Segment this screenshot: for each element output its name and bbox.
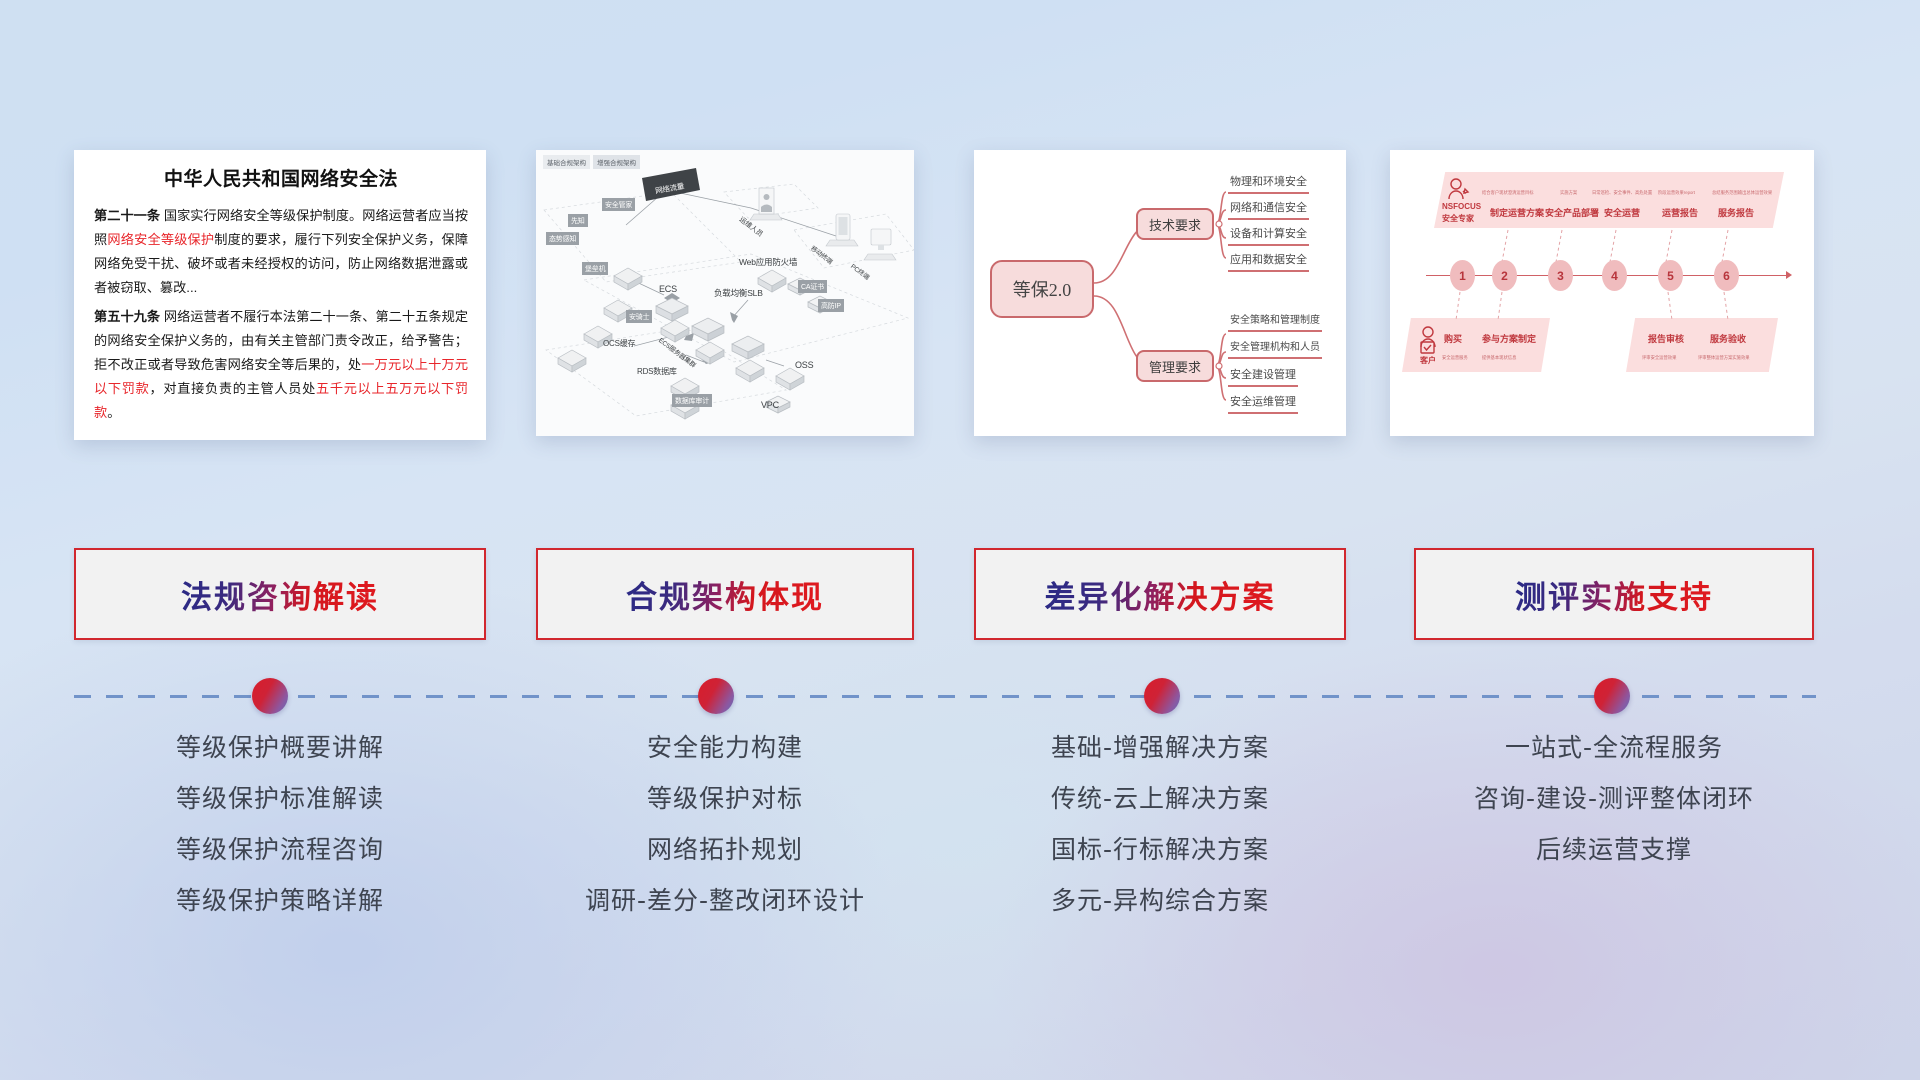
law-title: 中华人民共和国网络安全法: [94, 164, 468, 191]
headline-label-4: 测评实施支持: [1515, 572, 1713, 617]
detail-column-1: 等级保护概要讲解 等级保护标准解读 等级保护流程咨询 等级保护策略详解: [74, 735, 486, 939]
nsfocus-top-label-1: 制定运营方案: [1490, 206, 1544, 219]
list-item: 安全能力构建: [536, 735, 914, 760]
arch-label-ocs-cache: OCS缓存: [600, 336, 638, 350]
arch-label-anti-ddos-ip: 高防IP: [818, 299, 844, 312]
headline-box-assessment-support[interactable]: 测评实施支持: [1414, 548, 1814, 640]
arch-label-oss: OSS: [792, 358, 816, 371]
mindmap-leaf-ops-mgmt: 安全运维管理: [1228, 396, 1298, 414]
arch-label-security-butler: 安全管家: [602, 198, 635, 211]
list-item: 国标-行标解决方案: [974, 837, 1346, 862]
arch-label-bastion-host: 堡垒机: [582, 262, 608, 275]
nsfocus-bottom-sub-1: 安全运营服务: [1442, 355, 1468, 361]
nsfocus-axis-arrow-icon: [1786, 271, 1792, 279]
mindmap-leaf-construction-mgmt: 安全建设管理: [1228, 369, 1298, 387]
arch-label-vpc: VPC: [758, 398, 782, 411]
list-item: 多元-异构综合方案: [974, 888, 1346, 913]
headline-box-compliance-architecture[interactable]: 合规架构体现: [536, 548, 914, 640]
nsfocus-top-sub-3: 日常巡检、安全事件、高危处置: [1592, 190, 1652, 196]
slide-canvas: 中华人民共和国网络安全法 第二十一条 国家实行网络安全等级保护制度。网络运营者应…: [0, 0, 1920, 1080]
list-item: 咨询-建设-测评整体闭环: [1414, 786, 1814, 811]
timeline-connector: [0, 668, 1920, 724]
list-item: 等级保护标准解读: [74, 786, 486, 811]
detail-columns: 等级保护概要讲解 等级保护标准解读 等级保护流程咨询 等级保护策略详解 安全能力…: [0, 735, 1920, 1015]
list-item: 等级保护流程咨询: [74, 837, 486, 862]
list-item: 网络拓扑规划: [536, 837, 914, 862]
nsfocus-top-label-5: 服务报告: [1718, 206, 1754, 219]
nsfocus-bottom-label-1: 购买: [1444, 332, 1462, 345]
nsfocus-step-node-2: 2: [1492, 260, 1517, 291]
mindmap-leaf-app-data: 应用和数据安全: [1228, 254, 1309, 272]
law-article-21-highlight: 网络安全等级保护: [107, 232, 214, 247]
headline-label-3: 差异化解决方案: [1045, 572, 1276, 617]
nsfocus-customer-role: 客户: [1420, 355, 1436, 366]
law-article-21-label: 第二十一条: [94, 208, 160, 223]
headline-box-regulation-consulting[interactable]: 法规咨询解读: [74, 548, 486, 640]
nsfocus-step-node-1: 1: [1450, 260, 1475, 291]
arch-label-ecs: ECS: [656, 282, 680, 295]
law-article-59-text-c: 。: [107, 405, 120, 420]
mindmap-leaf-physical-env: 物理和环境安全: [1228, 176, 1309, 194]
nsfocus-vendor-name: NSFOCUS: [1442, 202, 1481, 211]
list-item: 调研-差分-整改闭环设计: [536, 888, 914, 913]
thumbnail-card-row: 中华人民共和国网络安全法 第二十一条 国家实行网络安全等级保护制度。网络运营者应…: [0, 150, 1920, 440]
nsfocus-top-sub-1: 结合客户现状澄清运营目标: [1482, 190, 1534, 196]
nsfocus-step-node-3: 3: [1548, 260, 1573, 291]
arch-label-ca-cert: CA证书: [798, 280, 827, 293]
arch-label-situation-awareness: 态势感知: [546, 232, 579, 245]
law-document: 中华人民共和国网络安全法 第二十一条 国家实行网络安全等级保护制度。网络运营者应…: [74, 150, 486, 438]
law-article-21: 第二十一条 国家实行网络安全等级保护制度。网络运营者应当按照网络安全等级保护制度…: [94, 204, 468, 300]
headline-label-2: 合规架构体现: [626, 572, 824, 617]
list-item: 等级保护对标: [536, 786, 914, 811]
card-cybersecurity-law[interactable]: 中华人民共和国网络安全法 第二十一条 国家实行网络安全等级保护制度。网络运营者应…: [74, 150, 486, 440]
mindmap-branch-technical: 技术要求: [1136, 208, 1214, 240]
nsfocus-top-label-3: 安全运营: [1604, 206, 1640, 219]
headline-label-1: 法规咨询解读: [181, 572, 379, 617]
mindmap-root-node: 等保2.0: [990, 260, 1094, 318]
list-item: 后续运营支撑: [1414, 837, 1814, 862]
nsfocus-step-node-4: 4: [1602, 260, 1627, 291]
mindmap-leaf-org-personnel: 安全管理机构和人员: [1228, 342, 1322, 359]
card-cloud-architecture[interactable]: 基础合规架构 增强合规架构: [536, 150, 914, 436]
nsfocus-top-sub-2: 实施方案: [1560, 190, 1577, 196]
nsfocus-top-sub-4: 阶段运营效果report: [1658, 190, 1695, 196]
list-item: 传统-云上解决方案: [974, 786, 1346, 811]
timeline-dot-3[interactable]: [1144, 678, 1180, 714]
arch-label-db-audit: 数据库审计: [672, 394, 712, 407]
mindmap-leaf-policy-system: 安全策略和管理制度: [1228, 315, 1322, 332]
detail-column-4: 一站式-全流程服务 咨询-建设-测评整体闭环 后续运营支撑: [1414, 735, 1814, 888]
nsfocus-top-sub-5: 总结服务范围输出总体运营效果: [1712, 190, 1772, 196]
architecture-diagram: 基础合规架构 增强合规架构: [536, 150, 914, 436]
nsfocus-timeline-diagram: 1 2 3 4 5 6 NSFOCUS 安全专家 结合客户现状澄清运营目标 制定…: [1390, 150, 1814, 436]
card-nsfocus-service-flow[interactable]: 1 2 3 4 5 6 NSFOCUS 安全专家 结合客户现状澄清运营目标 制定…: [1390, 150, 1814, 436]
nsfocus-bottom-label-4: 服务验收: [1710, 332, 1746, 345]
timeline-dashed-line: [74, 695, 1816, 698]
nsfocus-top-label-4: 运营报告: [1662, 206, 1698, 219]
list-item: 等级保护策略详解: [74, 888, 486, 913]
arch-label-slb: 负载均衡SLB: [711, 285, 766, 300]
list-item: 等级保护概要讲解: [74, 735, 486, 760]
arch-label-anqishi: 安骑士: [626, 310, 652, 323]
arch-label-rds-database: RDS数据库: [634, 364, 680, 378]
nsfocus-step-node-5: 5: [1658, 260, 1683, 291]
timeline-dot-2[interactable]: [698, 678, 734, 714]
detail-column-2: 安全能力构建 等级保护对标 网络拓扑规划 调研-差分-整改闭环设计: [536, 735, 914, 939]
list-item: 一站式-全流程服务: [1414, 735, 1814, 760]
nsfocus-bottom-label-3: 报告审核: [1648, 332, 1684, 345]
law-article-59-label: 第五十九条: [94, 309, 160, 324]
list-item: 基础-增强解决方案: [974, 735, 1346, 760]
card-mindmap-dengbao[interactable]: 等保2.0 技术要求 管理要求 物理和环境安全 网络和通信安全 设备和计算安全 …: [974, 150, 1346, 436]
nsfocus-bottom-sub-4: 评审整体运营方案实施效果: [1698, 355, 1750, 361]
mindmap-diagram: 等保2.0 技术要求 管理要求 物理和环境安全 网络和通信安全 设备和计算安全 …: [974, 150, 1346, 436]
timeline-dot-1[interactable]: [252, 678, 288, 714]
mindmap-leaf-device-compute: 设备和计算安全: [1228, 228, 1309, 246]
law-article-59-text-b: ，对直接负责的主管人员处: [150, 381, 317, 396]
nsfocus-vendor-role: 安全专家: [1442, 213, 1474, 224]
mindmap-leaf-network-comm: 网络和通信安全: [1228, 202, 1309, 220]
nsfocus-top-label-2: 安全产品部署: [1545, 206, 1599, 219]
detail-column-3: 基础-增强解决方案 传统-云上解决方案 国标-行标解决方案 多元-异构综合方案: [974, 735, 1346, 939]
headline-box-differentiated-solution[interactable]: 差异化解决方案: [974, 548, 1346, 640]
nsfocus-bottom-sub-2: 提供基本现状信息: [1482, 355, 1516, 361]
nsfocus-step-node-6: 6: [1714, 260, 1739, 291]
arch-label-xianzhi: 先知: [568, 214, 588, 227]
nsfocus-bottom-label-2: 参与方案制定: [1482, 332, 1536, 345]
mindmap-branch-management: 管理要求: [1136, 350, 1214, 382]
nsfocus-bottom-sub-3: 评审安全运营效果: [1642, 355, 1676, 361]
headline-row: 法规咨询解读 合规架构体现 差异化解决方案 测评实施支持: [0, 548, 1920, 640]
law-article-59: 第五十九条 网络运营者不履行本法第二十一条、第二十五条规定的网络安全保护义务的，…: [94, 305, 468, 425]
arch-label-waf: Web应用防火墙: [736, 254, 800, 269]
timeline-dot-4[interactable]: [1594, 678, 1630, 714]
